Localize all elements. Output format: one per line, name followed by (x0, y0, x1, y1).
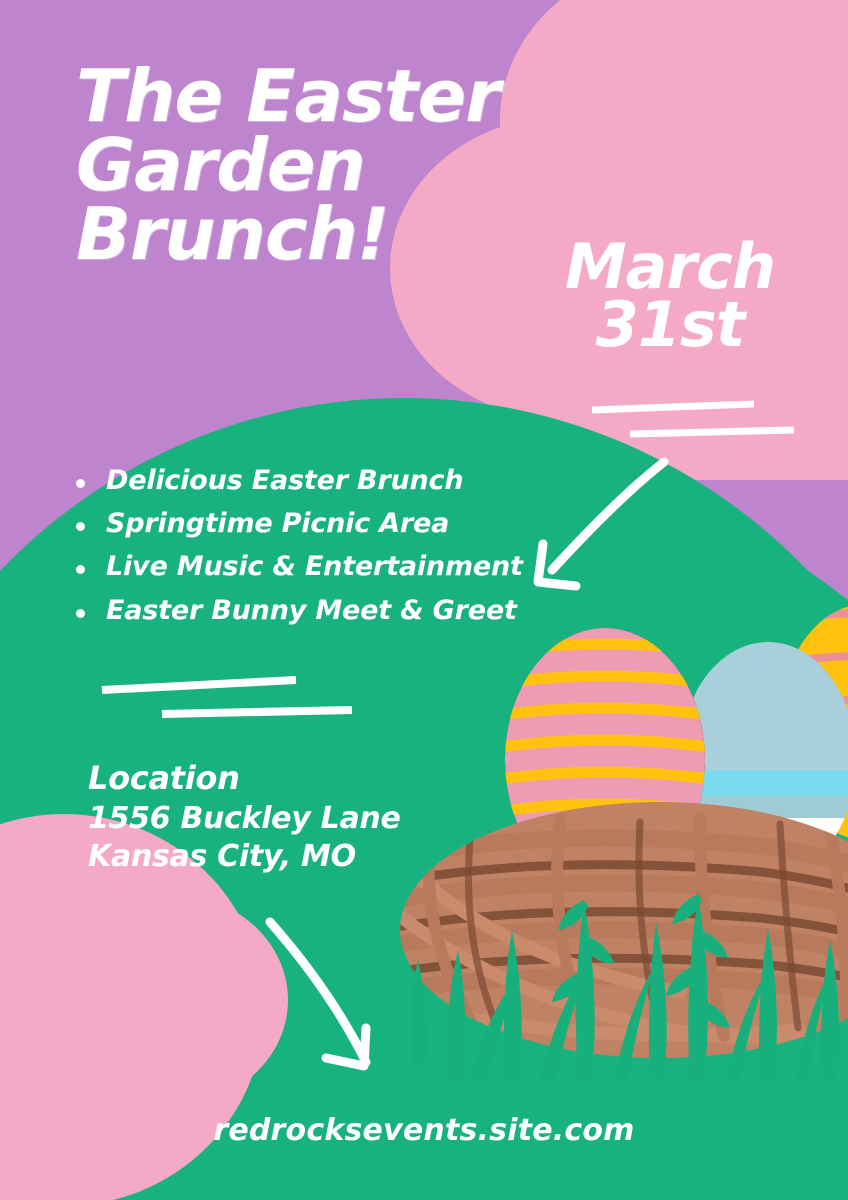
easter-brunch-poster: The Easter Garden Brunch! March 31st Del… (0, 0, 848, 1200)
website-url[interactable]: redrocksevents.site.com (0, 1113, 848, 1148)
list-item: Easter Bunny Meet & Greet (68, 596, 528, 626)
title-line-1: The Easter (76, 62, 546, 131)
location-heading: Location (88, 760, 418, 798)
date-line-day: 31st (520, 296, 820, 354)
page-title: The Easter Garden Brunch! (76, 62, 546, 269)
location-block: Location 1556 Buckley Lane Kansas City, … (88, 760, 418, 875)
list-item: Live Music & Entertainment (68, 552, 528, 582)
title-line-3: Brunch! (76, 200, 546, 269)
location-address-line-2: Kansas City, MO (88, 838, 418, 876)
title-line-2: Garden (76, 131, 546, 200)
list-item: Springtime Picnic Area (68, 509, 528, 539)
location-address-line-1: 1556 Buckley Lane (88, 800, 418, 838)
feature-list: Delicious Easter Brunch Springtime Picni… (68, 466, 528, 639)
list-item: Delicious Easter Brunch (68, 466, 528, 496)
event-date: March 31st (520, 238, 820, 355)
